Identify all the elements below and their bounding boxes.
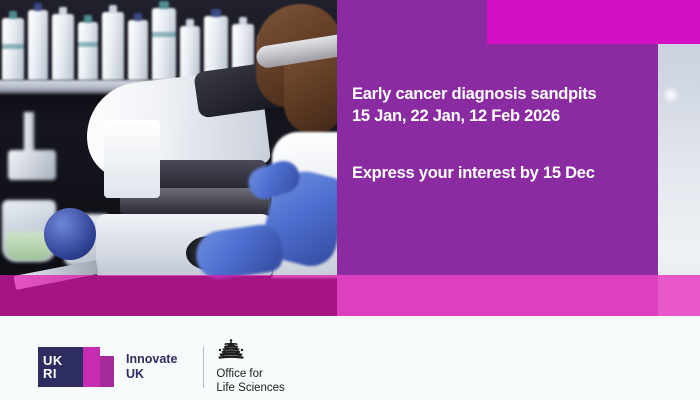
ukri-pink-block-short (100, 356, 114, 387)
innovate-uk-line-1: Innovate (126, 352, 177, 367)
ols-line-1: Office for (216, 367, 284, 381)
innovate-uk-wordmark: Innovate UK (126, 352, 177, 382)
ukri-letters-top: UK (43, 354, 79, 367)
microscope-light-panel (104, 120, 160, 198)
banner-copy: Early cancer diagnosis sandpits 15 Jan, … (352, 84, 662, 183)
innovate-uk-line-2: UK (126, 367, 177, 382)
reagent-bottle (180, 26, 200, 80)
banner-headline: Early cancer diagnosis sandpits 15 Jan, … (352, 84, 662, 128)
royal-crest-icon (216, 338, 246, 360)
ols-wordmark: Office for Life Sciences (216, 367, 284, 396)
magenta-accent-block (487, 0, 700, 44)
headline-line-2: 15 Jan, 22 Jan, 12 Feb 2026 (352, 106, 662, 128)
microscope-focus-knob (44, 208, 96, 260)
logo-row: UK RI Innovate UK (38, 338, 285, 396)
reagent-bottle (102, 12, 124, 80)
headline-line-1: Early cancer diagnosis sandpits (352, 85, 596, 103)
promo-banner: Early cancer diagnosis sandpits 15 Jan, … (0, 0, 700, 400)
light-glint (662, 86, 680, 104)
clamp-head (8, 150, 56, 180)
banner-call-to-action: Express your interest by 15 Dec (352, 128, 662, 183)
logo-divider (203, 346, 204, 388)
lab-window-light (658, 0, 700, 316)
ukri-wordmark: UK RI (43, 354, 79, 380)
logo-footer: UK RI Innovate UK (0, 316, 700, 400)
reagent-bottle (2, 18, 24, 80)
reagent-bottle (52, 14, 74, 80)
reagent-bottle (28, 10, 48, 80)
ols-line-2: Life Sciences (216, 381, 284, 395)
reagent-bottle (128, 20, 148, 80)
ukri-logo-icon: UK RI (38, 347, 114, 387)
ukri-letters-bottom: RI (43, 367, 79, 380)
office-for-life-sciences-logo: Office for Life Sciences (216, 338, 284, 396)
reagent-bottle (78, 22, 98, 80)
ukri-pink-block-tall (83, 347, 100, 387)
reagent-bottle (152, 8, 176, 80)
